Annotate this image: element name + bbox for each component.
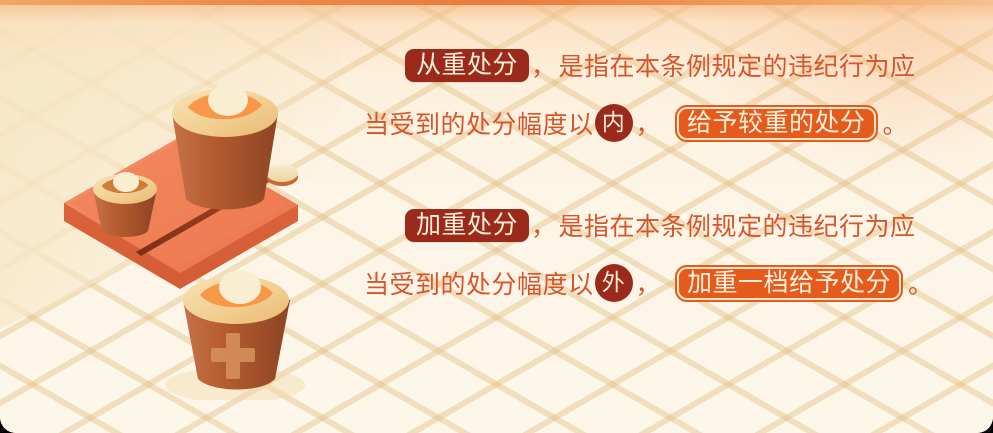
paragraph-jiazhong-line-1: 加重处分 ， 是指在本条例规定的违纪行为应: [350, 196, 950, 254]
body-text-4: 当受到的处分幅度以: [364, 265, 594, 301]
slider-knob: [266, 164, 298, 186]
body-text-3: 是指在本条例规定的违纪行为应: [559, 207, 916, 243]
action-box-jiazhongyidang: 加重一档给予处分: [675, 265, 903, 302]
comma-1: ，: [529, 47, 559, 83]
paragraph-congzhong: 从重处分 ， 是指在本条例规定的违纪行为应 当受到的处分幅度以 内 ， 给予较重…: [350, 36, 950, 152]
large-weight-on-plate: [172, 84, 278, 210]
slide-canvas: 从重处分 ， 是指在本条例规定的违纪行为应 当受到的处分幅度以 内 ， 给予较重…: [0, 0, 993, 433]
action-box-jiyujiaozhong: 给予较重的处分: [675, 105, 878, 142]
small-weight-on-plate: [93, 172, 157, 237]
term-badge-jiazhongchufen: 加重处分: [405, 209, 529, 242]
period-2: 。: [906, 265, 936, 301]
top-accent-band: [0, 0, 993, 5]
period-1: 。: [881, 105, 911, 141]
text-content: 从重处分 ， 是指在本条例规定的违纪行为应 当受到的处分幅度以 内 ， 给予较重…: [350, 36, 950, 312]
floor-weight: [165, 270, 305, 400]
term-badge-congzhongchufen: 从重处分: [405, 49, 529, 82]
body-text-2: 当受到的处分幅度以: [364, 105, 594, 141]
comma-4: ，: [634, 265, 664, 301]
paragraph-jiazhong-line-2: 当受到的处分幅度以 外 ， 加重一档给予处分 。: [350, 254, 950, 312]
paragraph-jiazhong: 加重处分 ， 是指在本条例规定的违纪行为应 当受到的处分幅度以 外 ， 加重一档…: [350, 196, 950, 312]
paragraph-congzhong-line-2: 当受到的处分幅度以 内 ， 给予较重的处分 。: [350, 94, 950, 152]
illustration-weights: [30, 55, 350, 400]
paragraph-congzhong-line-1: 从重处分 ， 是指在本条例规定的违纪行为应: [350, 36, 950, 94]
comma-2: ，: [634, 105, 664, 141]
comma-3: ，: [529, 207, 559, 243]
chip-wai: 外: [595, 264, 633, 302]
chip-nei: 内: [595, 104, 633, 142]
body-text-1: 是指在本条例规定的违纪行为应: [559, 47, 916, 83]
